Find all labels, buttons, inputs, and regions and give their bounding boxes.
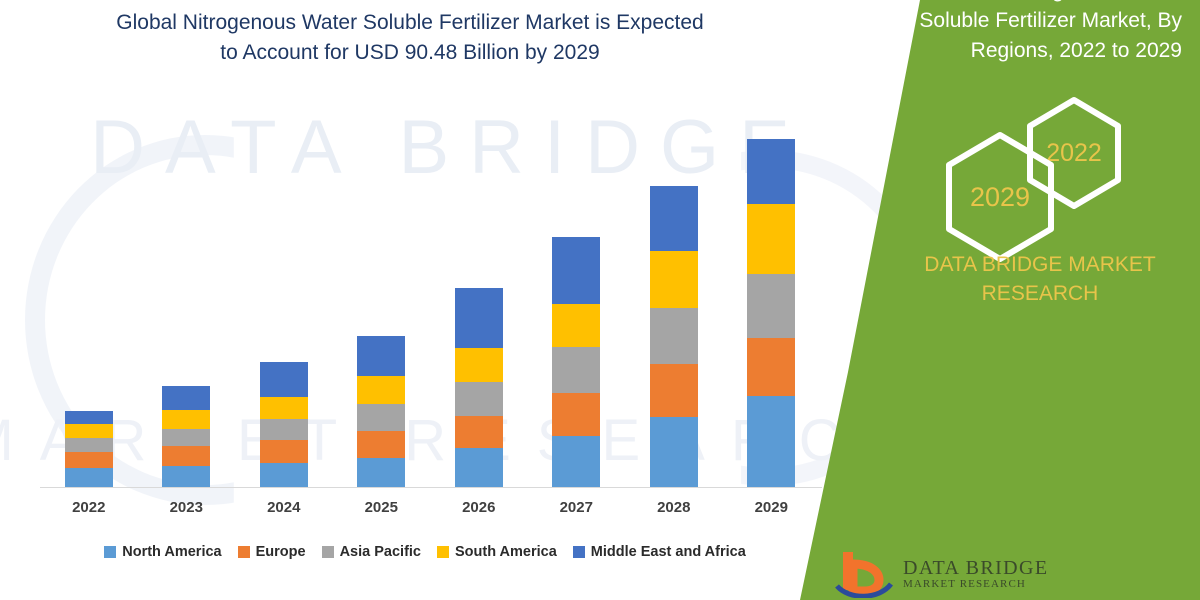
bar-segment-europe[interactable] [65, 452, 113, 468]
x-axis-label-2022: 2022 [44, 499, 134, 516]
bar-segment-europe[interactable] [650, 364, 698, 418]
bar-segment-north-america[interactable] [65, 468, 113, 487]
databridge-b-icon [835, 550, 893, 598]
hexagon-2029-label: 2029 [940, 130, 1060, 264]
bar-segment-middle-east-and-africa[interactable] [455, 288, 503, 349]
legend-label: Middle East and Africa [591, 544, 746, 560]
bar-column-2026 [434, 120, 524, 487]
x-axis-label-2028: 2028 [629, 499, 719, 516]
stacked-bar[interactable] [357, 336, 405, 487]
panel-title: Global Nitrogenous Water Soluble Fertili… [852, 0, 1182, 65]
bar-segment-europe[interactable] [552, 393, 600, 437]
bar-segment-europe[interactable] [357, 431, 405, 458]
bar-segment-middle-east-and-africa[interactable] [552, 237, 600, 303]
bar-segment-south-america[interactable] [162, 410, 210, 429]
page-title-line-1: Global Nitrogenous Water Soluble Fertili… [30, 8, 790, 38]
stacked-bar[interactable] [747, 139, 795, 487]
bar-segment-north-america[interactable] [650, 417, 698, 487]
panel-brand: DATA BRIDGE MARKET RESEARCH [890, 250, 1190, 309]
databridge-logo: DATA BRIDGE MARKET RESEARCH [835, 548, 1175, 600]
stacked-bar[interactable] [455, 288, 503, 487]
bar-segment-asia-pacific[interactable] [455, 382, 503, 416]
bar-segment-north-america[interactable] [747, 396, 795, 487]
x-axis-labels: 20222023202420252026202720282029 [40, 492, 820, 522]
bar-segment-north-america[interactable] [260, 463, 308, 487]
bar-segment-south-america[interactable] [455, 348, 503, 382]
infographic-canvas: DATA BRIDGE MARKET RESEARCH Global Nitro… [0, 0, 1200, 600]
stacked-bar[interactable] [162, 386, 210, 487]
bar-segment-middle-east-and-africa[interactable] [650, 186, 698, 251]
legend-item-europe[interactable]: Europe [238, 544, 306, 560]
bar-segment-north-america[interactable] [357, 458, 405, 487]
bar-segment-europe[interactable] [260, 440, 308, 463]
bar-column-2028 [629, 120, 719, 487]
bar-segment-middle-east-and-africa[interactable] [65, 411, 113, 425]
stacked-bar-chart: 20222023202420252026202720282029 North A… [0, 0, 900, 600]
bar-segment-asia-pacific[interactable] [260, 419, 308, 440]
panel-brand-line-2: RESEARCH [890, 279, 1190, 308]
legend-swatch-icon [322, 546, 334, 558]
stacked-bar[interactable] [552, 237, 600, 487]
bar-segment-asia-pacific[interactable] [650, 308, 698, 364]
legend-swatch-icon [104, 546, 116, 558]
x-axis-label-2023: 2023 [141, 499, 231, 516]
databridge-logo-text: DATA BRIDGE MARKET RESEARCH [903, 558, 1048, 591]
bar-segment-asia-pacific[interactable] [552, 347, 600, 393]
bar-column-2025 [336, 120, 426, 487]
bar-column-2023 [141, 120, 231, 487]
x-axis-label-2026: 2026 [434, 499, 524, 516]
stacked-bar[interactable] [650, 186, 698, 487]
bar-segment-asia-pacific[interactable] [65, 438, 113, 452]
x-axis-label-2024: 2024 [239, 499, 329, 516]
bar-segment-middle-east-and-africa[interactable] [260, 362, 308, 398]
bar-segment-south-america[interactable] [650, 251, 698, 309]
bar-segment-south-america[interactable] [260, 397, 308, 419]
bar-segment-south-america[interactable] [552, 304, 600, 348]
bar-segment-asia-pacific[interactable] [162, 429, 210, 447]
bar-segment-middle-east-and-africa[interactable] [162, 386, 210, 410]
bar-segment-asia-pacific[interactable] [357, 404, 405, 431]
x-axis-line [40, 487, 822, 488]
bar-segment-north-america[interactable] [162, 466, 210, 487]
bar-segment-south-america[interactable] [747, 204, 795, 274]
hexagon-badges: 2022 2029 [940, 95, 1140, 225]
page-title-line-2: to Account for USD 90.48 Billion by 2029 [30, 38, 790, 68]
logo-name-line-2: MARKET RESEARCH [903, 579, 1048, 591]
panel-brand-line-1: DATA BRIDGE MARKET [890, 250, 1190, 279]
chart-legend: North AmericaEuropeAsia PacificSouth Ame… [30, 538, 820, 566]
legend-label: Asia Pacific [340, 544, 421, 560]
panel-title-line-3: Regions, 2022 to 2029 [852, 36, 1182, 66]
legend-item-asia-pacific[interactable]: Asia Pacific [322, 544, 421, 560]
bar-segment-south-america[interactable] [65, 424, 113, 438]
bar-segment-south-america[interactable] [357, 376, 405, 404]
legend-label: South America [455, 544, 557, 560]
bar-segment-middle-east-and-africa[interactable] [747, 139, 795, 205]
bar-column-2022 [44, 120, 134, 487]
bar-segment-north-america[interactable] [552, 436, 600, 487]
page-title: Global Nitrogenous Water Soluble Fertili… [30, 8, 790, 68]
legend-item-north-america[interactable]: North America [104, 544, 221, 560]
legend-swatch-icon [573, 546, 585, 558]
bar-segment-europe[interactable] [162, 446, 210, 466]
bar-column-2027 [531, 120, 621, 487]
legend-label: North America [122, 544, 221, 560]
x-axis-label-2029: 2029 [726, 499, 816, 516]
legend-swatch-icon [437, 546, 449, 558]
legend-item-middle-east-and-africa[interactable]: Middle East and Africa [573, 544, 746, 560]
legend-label: Europe [256, 544, 306, 560]
bar-group [40, 120, 820, 487]
panel-title-line-2: Soluble Fertilizer Market, By [852, 6, 1182, 36]
bar-segment-asia-pacific[interactable] [747, 274, 795, 339]
legend-item-south-america[interactable]: South America [437, 544, 557, 560]
x-axis-label-2025: 2025 [336, 499, 426, 516]
logo-name-line-1: DATA BRIDGE [903, 558, 1048, 579]
bar-segment-europe[interactable] [455, 416, 503, 449]
x-axis-label-2027: 2027 [531, 499, 621, 516]
bar-column-2024 [239, 120, 329, 487]
hexagon-2029: 2029 [940, 130, 1060, 264]
bar-segment-europe[interactable] [747, 338, 795, 396]
bar-segment-middle-east-and-africa[interactable] [357, 336, 405, 376]
stacked-bar[interactable] [65, 411, 113, 487]
bar-segment-north-america[interactable] [455, 448, 503, 487]
bar-column-2029 [726, 120, 816, 487]
legend-swatch-icon [238, 546, 250, 558]
stacked-bar[interactable] [260, 362, 308, 487]
